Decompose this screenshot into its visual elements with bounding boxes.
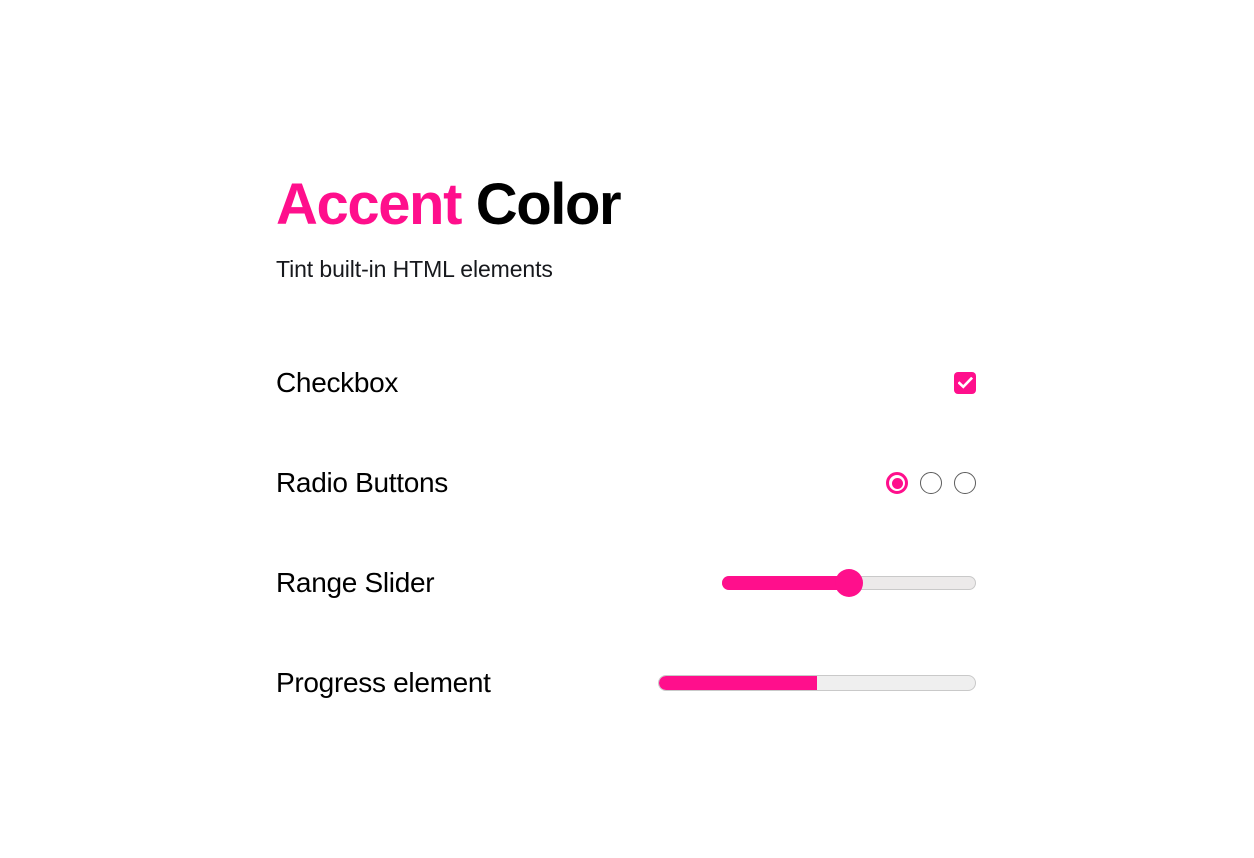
row-label-progress-element: Progress element	[276, 667, 491, 699]
page-title-rest-word: Color	[461, 172, 620, 237]
radio-dot	[892, 478, 903, 489]
radio-button-2[interactable]	[920, 472, 942, 494]
controls-list: Checkbox Radio Buttons	[276, 283, 976, 733]
row-control-progress-element	[658, 675, 976, 691]
row-progress-element: Progress element	[276, 633, 976, 733]
range-slider-thumb[interactable]	[835, 569, 863, 597]
page-title-accent-word: Accent	[276, 172, 461, 237]
row-control-radio-buttons	[886, 472, 976, 494]
radio-button-3[interactable]	[954, 472, 976, 494]
progress-track	[658, 675, 976, 691]
row-control-range-slider	[722, 569, 976, 597]
radio-group	[886, 472, 976, 494]
progress-element	[658, 675, 976, 691]
radio-button-1[interactable]	[886, 472, 908, 494]
row-label-radio-buttons: Radio Buttons	[276, 467, 448, 499]
row-label-range-slider: Range Slider	[276, 567, 434, 599]
range-slider[interactable]	[722, 569, 976, 597]
row-radio-buttons: Radio Buttons	[276, 433, 976, 533]
check-icon	[958, 377, 973, 389]
page-title: Accent Color	[276, 176, 976, 234]
accent-color-demo-page: Accent Color Tint built-in HTML elements…	[0, 0, 1254, 858]
checkbox-input[interactable]	[954, 372, 976, 394]
range-slider-fill	[722, 576, 849, 590]
progress-fill	[659, 676, 817, 690]
row-checkbox: Checkbox	[276, 333, 976, 433]
row-control-checkbox	[954, 372, 976, 394]
demo-panel: Accent Color Tint built-in HTML elements…	[276, 176, 976, 733]
row-range-slider: Range Slider	[276, 533, 976, 633]
page-subtitle: Tint built-in HTML elements	[276, 234, 976, 283]
row-label-checkbox: Checkbox	[276, 367, 398, 399]
